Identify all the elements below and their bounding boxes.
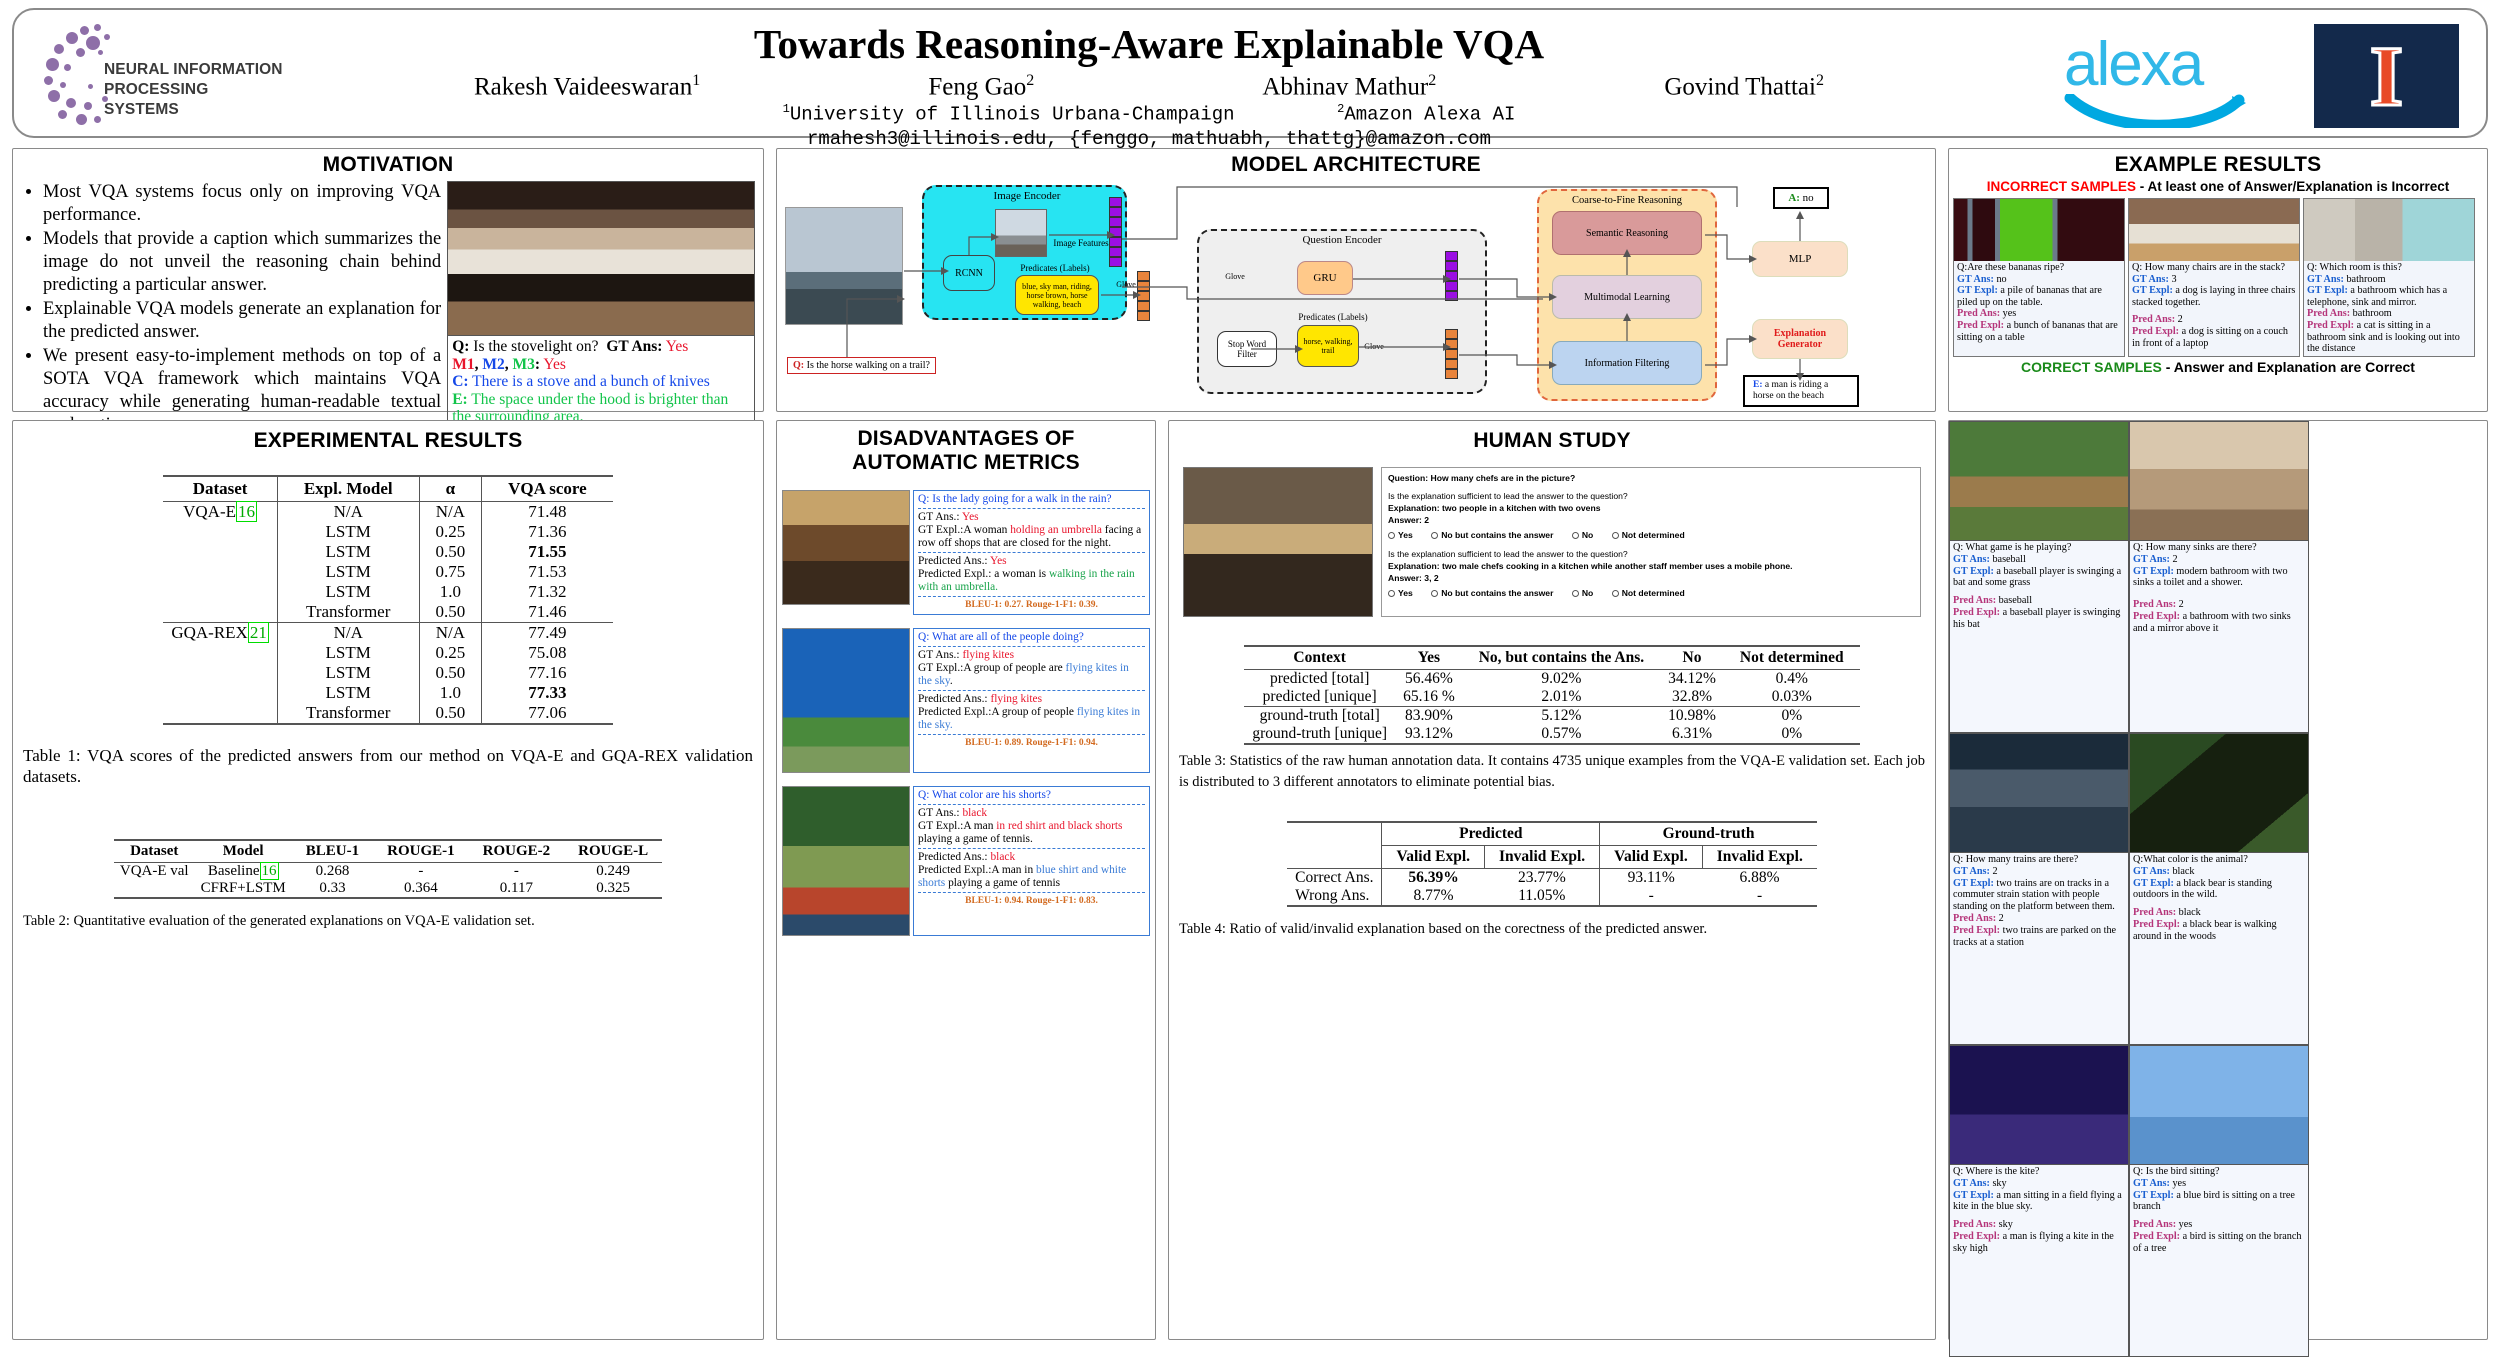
disadvantage-row: Q: What color are his shorts? GT Ans.: b…	[777, 783, 1155, 936]
rcnn-image-patch	[995, 209, 1047, 257]
sample-text: Q: Where is the kite? GT Ans: sky GT Exp…	[1949, 1165, 2129, 1357]
correct-label-rest: - Answer and Explanation are Correct	[2166, 359, 2415, 375]
table-row: Transformer 0.50 77.06	[163, 703, 612, 724]
cell-score: 71.46	[482, 602, 613, 623]
table-row: VQA-E16 N/A N/A 71.48	[163, 502, 612, 523]
table-4-wrap: Predicted Ground-truthValid Expl.Invalid…	[1169, 821, 1935, 907]
dis-pred-ans: flying kites	[990, 693, 1042, 705]
survey-expl-1-label: Explanation:	[1388, 503, 1440, 513]
table-row: GQA-REX21 N/A N/A 77.49	[163, 623, 612, 644]
dis-pred-ans-label: Predicted Ans.:	[918, 851, 988, 863]
image-features-label: Image Features	[1045, 237, 1117, 249]
correct-samples-heading: CORRECT SAMPLES - Answer and Explanation…	[1949, 359, 2487, 375]
cell-no: 10.98%	[1660, 707, 1724, 726]
cell-pred-invalid: 11.05%	[1485, 887, 1600, 906]
cell-gt-invalid: -	[1702, 887, 1817, 906]
cell-dataset	[163, 683, 277, 703]
correct-sample-cell: Q: Where is the kite? GT Ans: sky GT Exp…	[1949, 1045, 2129, 1357]
dis-pred-ans-label: Predicted Ans.:	[918, 555, 988, 567]
motivation-c-line: C: There is a stove and a bunch of knive…	[452, 373, 750, 391]
table-1-header-0: Dataset	[163, 476, 277, 502]
cell-model: LSTM	[277, 562, 419, 582]
table-3: ContextYesNo, but contains the Ans.NoNot…	[1244, 645, 1859, 745]
table-2-wrap: DatasetModelBLEU-1ROUGE-1ROUGE-2ROUGE-L …	[13, 839, 763, 899]
example-results-title: EXAMPLE RESULTS	[1949, 153, 2487, 177]
table-row: VQA-E val Baseline16 0.268 - - 0.249	[114, 863, 662, 881]
cell-gt-invalid: 6.88%	[1702, 869, 1817, 888]
survey-options-2[interactable]: Yes No but contains the answer No Not de…	[1388, 587, 1914, 599]
gt-expl-label: GT Expl:	[2132, 285, 2173, 296]
example-card: Q:Are these bananas ripe? GT Ans: no GT …	[1953, 198, 2125, 357]
survey-question-text: How many chefs are in the picture?	[1431, 473, 1576, 483]
cell-dataset	[163, 562, 277, 582]
dis-gt-expl-hl: holding an umbrella	[1010, 524, 1102, 536]
e-label: E:	[452, 391, 468, 408]
survey-expl-1: two people in a kitchen with two ovens	[1442, 503, 1601, 513]
c-text: There is a stove and a bunch of knives	[472, 373, 710, 390]
gt-expl-label: GT Expl:	[1957, 285, 1998, 296]
cell-score: 71.55	[482, 542, 613, 562]
cell-model: LSTM	[277, 683, 419, 703]
neurips-logo: NEURAL INFORMATION PROCESSING SYSTEMS	[42, 24, 272, 128]
table-2-caption: Table 2: Quantitative evaluation of the …	[13, 905, 763, 932]
table-row: LSTM 0.50 77.16	[163, 663, 612, 683]
cell-yes: 93.12%	[1395, 725, 1463, 744]
semantic-reasoning-block: Semantic Reasoning	[1552, 211, 1702, 255]
pred-expl-label: Pred Expl:	[1957, 320, 2004, 331]
disadvantage-card: Q: Is the lady going for a walk in the r…	[913, 490, 1150, 615]
question-encoder-label: Question Encoder	[1267, 233, 1417, 247]
human-study-title: HUMAN STUDY	[1169, 429, 1935, 453]
motivation-bullet-0: Most VQA systems focus only on improving…	[43, 181, 441, 227]
table-4-group-predicted: Predicted	[1382, 822, 1600, 846]
motivation-title: MOTIVATION	[13, 153, 763, 177]
table-2-header-4: ROUGE-2	[469, 840, 565, 863]
motivation-q-line: Q: Is the stovelight on? GT Ans: Yes	[452, 338, 750, 356]
cell-model: N/A	[277, 623, 419, 644]
cell-rouge2: -	[469, 863, 565, 881]
incorrect-samples-row: Q:Are these bananas ripe? GT Ans: no GT …	[1949, 195, 2487, 357]
cell-context: ground-truth [total]	[1244, 707, 1395, 726]
cell-dataset	[163, 522, 277, 542]
dis-gt-ans: black	[962, 807, 987, 819]
m2-label: M2	[482, 356, 504, 373]
cell-dataset	[163, 542, 277, 562]
cell-model: LSTM	[277, 522, 419, 542]
dis-question: Q: Is the lady going for a walk in the r…	[918, 493, 1145, 506]
cell-no: 34.12%	[1660, 670, 1724, 689]
question-feature-vector	[1445, 251, 1458, 301]
table-2-header-0: Dataset	[114, 840, 195, 863]
table-row: Wrong Ans. 8.77% 11.05% - -	[1287, 887, 1817, 906]
glove-question-label: Glove	[1219, 271, 1251, 281]
cell-not-determined: 0%	[1724, 707, 1860, 726]
gt-expl-label: GT Expl:	[2307, 285, 2348, 296]
cell-alpha: 1.0	[419, 582, 482, 602]
pred-ans-label: Pred Ans:	[2307, 308, 2350, 319]
table-2: DatasetModelBLEU-1ROUGE-1ROUGE-2ROUGE-L …	[114, 839, 662, 899]
q-text: Is the stovelight on?	[473, 338, 598, 355]
cell-score: 77.33	[482, 683, 613, 703]
alexa-wordmark: alexa	[2064, 36, 2264, 94]
table-4-header-0	[1287, 846, 1382, 869]
information-filtering-block: Information Filtering	[1552, 341, 1702, 385]
m-value: Yes	[543, 356, 566, 373]
example-card: Q: How many chairs are in the stack? GT …	[2128, 198, 2300, 357]
table-4-header-1: Valid Expl.	[1382, 846, 1485, 869]
sample-text: Q: What game is he playing? GT Ans: base…	[1949, 541, 2129, 733]
cell-pred-valid: 56.39%	[1382, 869, 1485, 888]
table-4: Predicted Ground-truthValid Expl.Invalid…	[1287, 821, 1817, 907]
affil-2: Amazon Alexa AI	[1344, 103, 1515, 125]
gt-ans-label: GT Ans:	[2132, 274, 2169, 285]
dis-pred-ans: black	[990, 851, 1015, 863]
glove-image-label: Glove	[1113, 279, 1139, 289]
motivation-m-line: M1, M2, M3: Yes	[452, 356, 750, 374]
survey-answer-1: 2	[1424, 515, 1429, 525]
pred-ans-label: Pred Ans:	[1957, 308, 2000, 319]
incorrect-samples-heading: INCORRECT SAMPLES - At least one of Answ…	[1949, 179, 2487, 195]
pred-ans-value: bathroom	[2353, 308, 2392, 319]
table-row: Valid Expl.Invalid Expl.Valid Expl.Inval…	[1287, 846, 1817, 869]
incorrect-label-rest: - At least one of Answer/Explanation is …	[2140, 179, 2450, 194]
table-row: LSTM 1.0 77.33	[163, 683, 612, 703]
sample-text: Q: Which room is this? GT Ans: bathroom …	[2304, 261, 2474, 356]
cell-alpha: 0.50	[419, 703, 482, 724]
cell-score: 71.32	[482, 582, 613, 602]
cell-alpha: 0.75	[419, 562, 482, 582]
dis-pred-expl-label: Predicted Expl.:	[918, 864, 991, 876]
cell-alpha: N/A	[419, 623, 482, 644]
c-label: C:	[452, 373, 468, 390]
affil-1: University of Illinois Urbana-Champaign	[790, 103, 1235, 125]
sample-image	[1949, 1045, 2129, 1165]
cell-model: LSTM	[277, 643, 419, 663]
cell-model: LSTM	[277, 663, 419, 683]
survey-question-line: Question: How many chefs are in the pict…	[1388, 472, 1914, 484]
cell-no: 6.31%	[1660, 725, 1724, 744]
pred-expl-label: Pred Expl:	[2132, 326, 2179, 337]
dis-gt-ans-label: GT Ans.:	[918, 511, 960, 523]
table-row: Transformer 0.50 71.46	[163, 602, 612, 623]
cell-model: LSTM	[277, 582, 419, 602]
explanation-output-box: E: a man is riding a horse on the beach	[1743, 375, 1859, 407]
table-2-header-1: Model	[195, 840, 292, 863]
motivation-panel: MOTIVATION Most VQA systems focus only o…	[12, 148, 764, 412]
cell-no-contains: 5.12%	[1463, 707, 1660, 726]
pred-ans-value: 2	[2178, 314, 2183, 325]
disadvantage-row: Q: What are all of the people doing? GT …	[777, 625, 1155, 773]
sample-question: Q:Are these bananas ripe?	[1957, 262, 2121, 274]
cell-score: 71.48	[482, 502, 613, 523]
author-2: Abhinav Mathur2	[1262, 72, 1436, 101]
dis-gt-ans: Yes	[962, 511, 979, 523]
dis-question: Q: What color are his shorts?	[918, 789, 1145, 802]
gt-ans-value: 3	[2171, 274, 2176, 285]
motivation-qa-caption: Q: Is the stovelight on? GT Ans: Yes M1,…	[447, 336, 755, 429]
poster-root: NEURAL INFORMATION PROCESSING SYSTEMS To…	[0, 0, 2500, 1350]
motivation-kitchen-photo	[447, 181, 755, 336]
cell-score: 77.16	[482, 663, 613, 683]
radio-nd-1[interactable]	[1612, 532, 1619, 539]
table-row: ContextYesNo, but contains the Ans.NoNot…	[1244, 646, 1859, 670]
cell-context: predicted [total]	[1244, 670, 1395, 689]
sample-image	[2304, 199, 2474, 261]
cell-context: predicted [unique]	[1244, 688, 1395, 707]
correct-sample-cell: Q: What game is he playing? GT Ans: base…	[1949, 421, 2129, 733]
cell-rougeL: 0.249	[564, 863, 662, 881]
dis-gt-expl-label: GT Expl.:	[918, 662, 963, 674]
survey-answer-2: 3, 2	[1424, 573, 1438, 583]
question-predicate-vector	[1445, 329, 1458, 379]
author-list: Rakesh Vaideeswaran1 Feng Gao2 Abhinav M…	[434, 72, 1864, 101]
survey-expl-2-label: Explanation:	[1388, 561, 1440, 571]
logo-line-1: NEURAL INFORMATION	[104, 60, 284, 80]
radio-yes-1[interactable]	[1388, 532, 1395, 539]
example-results-panel: EXAMPLE RESULTS INCORRECT SAMPLES - At l…	[1948, 148, 2488, 412]
table-2-header-3: ROUGE-1	[373, 840, 469, 863]
image-encoder-label: Image Encoder	[967, 189, 1087, 203]
table-row: ground-truth [total] 83.90% 5.12% 10.98%…	[1244, 707, 1859, 726]
disadvantage-card: Q: What color are his shorts? GT Ans.: b…	[913, 786, 1150, 936]
sample-image	[1949, 421, 2129, 541]
glove-predicate-label: Glove	[1361, 341, 1387, 351]
dis-pred-ans: Yes	[990, 555, 1007, 567]
sample-text: Q: How many sinks are there? GT Ans: 2 G…	[2129, 541, 2309, 733]
table-1: DatasetExpl. ModelαVQA score VQA-E16 N/A…	[163, 475, 612, 725]
sample-question: Q: Is the bird sitting?	[2133, 1166, 2305, 1178]
cell-alpha: N/A	[419, 502, 482, 523]
correct-sample-cell: Q: How many trains are there? GT Ans: 2 …	[1949, 733, 2129, 1045]
correct-label: CORRECT SAMPLES	[2021, 359, 2162, 375]
cell-yes: 65.16 %	[1395, 688, 1463, 707]
disadvantage-card: Q: What are all of the people doing? GT …	[913, 628, 1150, 773]
table-row: predicted [total] 56.46% 9.02% 34.12% 0.…	[1244, 670, 1859, 689]
table-row: Correct Ans. 56.39% 23.77% 93.11% 6.88%	[1287, 869, 1817, 888]
experimental-results-panel: EXPERIMENTAL RESULTS DatasetExpl. Modelα…	[12, 420, 764, 1340]
sample-image	[1954, 199, 2124, 261]
survey-answer-1-label: Answer:	[1388, 515, 1422, 525]
cell-model: Transformer	[277, 703, 419, 724]
table-row: LSTM 0.75 71.53	[163, 562, 612, 582]
cell-row-label: Correct Ans.	[1287, 869, 1382, 888]
cell-alpha: 0.50	[419, 663, 482, 683]
cell-dataset	[163, 582, 277, 602]
table-4-header-2: Invalid Expl.	[1485, 846, 1600, 869]
cell-rougeL: 0.325	[564, 880, 662, 898]
correct-samples-grid: Q: What game is he playing? GT Ans: base…	[1949, 421, 2487, 1357]
image-predicate-vector	[1137, 271, 1150, 321]
table-3-header-4: Not determined	[1724, 646, 1860, 670]
predicates-question-label: Predicates (Labels)	[1287, 311, 1379, 323]
sample-text: Q: How many chairs are in the stack? GT …	[2129, 261, 2299, 350]
architecture-title: MODEL ARCHITECTURE	[777, 153, 1935, 177]
cell-yes: 83.90%	[1395, 707, 1463, 726]
table-1-header-2: α	[419, 476, 482, 502]
survey-prompt-1: Is the explanation sufficient to lead th…	[1388, 490, 1914, 502]
dis-question: Q: What are all of the people doing?	[918, 631, 1145, 644]
cell-score: 77.06	[482, 703, 613, 724]
mlp-block: MLP	[1752, 241, 1848, 277]
sample-question: Q:What color is the animal?	[2133, 854, 2305, 866]
survey-expl-2: two male chefs cooking in a kitchen whil…	[1442, 561, 1793, 571]
table-row: DatasetModelBLEU-1ROUGE-1ROUGE-2ROUGE-L	[114, 840, 662, 863]
affil-1-sup: 1	[783, 102, 790, 116]
cell-dataset	[163, 703, 277, 724]
cell-row-label: Wrong Ans.	[1287, 887, 1382, 906]
cell-pred-invalid: 23.77%	[1485, 869, 1600, 888]
survey-question-label: Question:	[1388, 473, 1428, 483]
contact-emails: rmahesh3@illinois.edu, {fenggo, mathuabh…	[434, 128, 1864, 150]
table-4-group-groundtruth: Ground-truth	[1600, 822, 1817, 846]
gt-ans-label: GT Ans:	[606, 338, 662, 355]
cell-bleu1: 0.33	[292, 880, 373, 898]
cell-model: LSTM	[277, 542, 419, 562]
disadvantage-image	[782, 786, 910, 936]
cell-rouge1: -	[373, 863, 469, 881]
poster-header: NEURAL INFORMATION PROCESSING SYSTEMS To…	[12, 8, 2488, 138]
cell-context: ground-truth [unique]	[1244, 725, 1395, 744]
cell-rouge2: 0.117	[469, 880, 565, 898]
table-row: LSTM 1.0 71.32	[163, 582, 612, 602]
radio-no-1[interactable]	[1572, 532, 1579, 539]
predicates-question-values: horse, walking, trail	[1297, 325, 1359, 367]
table-4-header-3: Valid Expl.	[1600, 846, 1703, 869]
logo-line-2: PROCESSING SYSTEMS	[104, 80, 284, 120]
neurips-logo-text: NEURAL INFORMATION PROCESSING SYSTEMS	[104, 60, 284, 120]
gru-block: GRU	[1297, 261, 1353, 295]
table-1-header-3: VQA score	[482, 476, 613, 502]
survey-form: Question: How many chefs are in the pict…	[1381, 467, 1921, 617]
coarse-to-fine-label: Coarse-to-Fine Reasoning	[1545, 193, 1709, 207]
correct-samples-panel: Q: What game is he playing? GT Ans: base…	[1948, 420, 2488, 1340]
sample-text: Q:Are these bananas ripe? GT Ans: no GT …	[1954, 261, 2124, 344]
table-2-header-5: ROUGE-L	[564, 840, 662, 863]
radio-nd-2[interactable]	[1612, 590, 1619, 597]
table-2-header-2: BLEU-1	[292, 840, 373, 863]
cell-alpha: 0.50	[419, 602, 482, 623]
predicates-image-values: blue, sky man, riding, horse brown, hors…	[1015, 275, 1099, 315]
cell-no-contains: 2.01%	[1463, 688, 1660, 707]
disadvantages-title-1: DISADVANTAGES OF	[777, 427, 1155, 451]
cell-model: Transformer	[277, 602, 419, 623]
affiliations: 1University of Illinois Urbana-Champaign…	[434, 102, 1864, 125]
input-image-thumbnail	[785, 207, 903, 325]
cell-dataset: VQA-E val	[114, 863, 195, 881]
table-4-corner	[1287, 822, 1382, 846]
alexa-logo: alexa	[2064, 36, 2264, 126]
cell-score: 77.49	[482, 623, 613, 644]
correct-sample-cell: Q:What color is the animal? GT Ans: blac…	[2129, 733, 2309, 1045]
cell-alpha: 1.0	[419, 683, 482, 703]
dis-gt-expl-label: GT Expl.:	[918, 820, 963, 832]
radio-no-2[interactable]	[1572, 590, 1579, 597]
architecture-diagram: Image Encoder Image Features RCNN Predic…	[777, 179, 1937, 411]
disadvantages-title-2: AUTOMATIC METRICS	[777, 451, 1155, 475]
explanation-output-text: a man is riding a horse on the beach	[1753, 380, 1828, 401]
sample-question: Q: How many chairs are in the stack?	[2132, 262, 2296, 274]
sample-text: Q:What color is the animal? GT Ans: blac…	[2129, 853, 2309, 1045]
cell-dataset	[163, 602, 277, 623]
pred-expl-label: Pred Expl:	[2307, 320, 2354, 331]
example-card: Q: Which room is this? GT Ans: bathroom …	[2303, 198, 2475, 357]
dis-pred-expl-label: Predicted Expl.:	[918, 706, 991, 718]
input-question-box: Q:Q: Is the horse walking on a trail? Is…	[787, 357, 936, 374]
multimodal-learning-block: Multimodal Learning	[1552, 275, 1702, 319]
dis-metric: BLEU-1: 0.94. Rouge-1-F1: 0.83.	[918, 895, 1145, 908]
sample-text: Q: Is the bird sitting? GT Ans: yes GT E…	[2129, 1165, 2309, 1357]
sample-question: Q: What game is he playing?	[1953, 542, 2125, 554]
dis-metric: BLEU-1: 0.27. Rouge-1-F1: 0.39.	[918, 599, 1145, 612]
correct-sample-cell: Q: How many sinks are there? GT Ans: 2 G…	[2129, 421, 2309, 733]
cell-not-determined: 0.03%	[1724, 688, 1860, 707]
table-1-header-1: Expl. Model	[277, 476, 419, 502]
table-3-header-1: Yes	[1395, 646, 1463, 670]
explanation-output-label: E:	[1753, 380, 1763, 390]
pred-ans-label: Pred Ans:	[2132, 314, 2175, 325]
cell-dataset	[114, 880, 195, 898]
cell-pred-valid: 8.77%	[1382, 887, 1485, 906]
q-label: Q:	[452, 338, 469, 355]
cell-dataset	[163, 663, 277, 683]
cell-model: N/A	[277, 502, 419, 523]
cell-dataset: GQA-REX21	[163, 623, 277, 644]
radio-yes-2[interactable]	[1388, 590, 1395, 597]
table-row: CFRF+LSTM 0.33 0.364 0.117 0.325	[114, 880, 662, 898]
disadvantage-row: Q: Is the lady going for a walk in the r…	[777, 487, 1155, 615]
dis-gt-ans-label: GT Ans.:	[918, 649, 960, 661]
table-row: LSTM 0.25 75.08	[163, 643, 612, 663]
gt-ans-label: GT Ans:	[1957, 274, 1994, 285]
table-1-wrap: DatasetExpl. ModelαVQA score VQA-E16 N/A…	[13, 475, 763, 725]
sample-image	[2129, 733, 2309, 853]
table-row: LSTM 0.25 71.36	[163, 522, 612, 542]
stop-word-filter-block: Stop Word Filter	[1217, 331, 1277, 367]
cell-rouge1: 0.364	[373, 880, 469, 898]
cell-dataset	[163, 643, 277, 663]
cell-gt-valid: -	[1600, 887, 1703, 906]
uiuc-block-i: I	[2370, 33, 2403, 119]
gt-ans-value: Yes	[666, 338, 689, 355]
dis-gt-expl-hl: in red shirt and black shorts	[996, 820, 1122, 832]
survey-prompt-2: Is the explanation sufficient to lead th…	[1388, 548, 1914, 560]
image-feature-vector	[1109, 197, 1122, 267]
cell-gt-valid: 93.11%	[1600, 869, 1703, 888]
cell-model: CFRF+LSTM	[195, 880, 292, 898]
table-4-header-4: Invalid Expl.	[1702, 846, 1817, 869]
amazon-smile-icon	[2064, 94, 2264, 128]
sample-text: Q: How many trains are there? GT Ans: 2 …	[1949, 853, 2129, 1045]
m3-label: M3	[512, 356, 534, 373]
table-row: LSTM 0.50 71.55	[163, 542, 612, 562]
radio-contains-2[interactable]	[1431, 590, 1438, 597]
author-3: Govind Thattai2	[1664, 72, 1824, 101]
cell-dataset: VQA-E16	[163, 502, 277, 523]
dis-gt-expl-label: GT Expl.:	[918, 524, 963, 536]
dis-gt-ans: flying kites	[962, 649, 1014, 661]
disadvantage-image	[782, 628, 910, 773]
correct-sample-cell: Q: Is the bird sitting? GT Ans: yes GT E…	[2129, 1045, 2309, 1357]
disadvantage-image	[782, 490, 910, 605]
predicates-image-label: Predicates (Labels)	[1009, 263, 1101, 274]
radio-contains-1[interactable]	[1431, 532, 1438, 539]
author-0: Rakesh Vaideeswaran1	[474, 72, 700, 101]
survey-options-1[interactable]: Yes No but contains the answer No Not de…	[1388, 529, 1914, 541]
table-row: ground-truth [unique] 93.12% 0.57% 6.31%…	[1244, 725, 1859, 744]
sample-image	[1949, 733, 2129, 853]
table-1-caption: Table 1: VQA scores of the predicted ans…	[13, 739, 763, 787]
sample-image	[2129, 1045, 2309, 1165]
